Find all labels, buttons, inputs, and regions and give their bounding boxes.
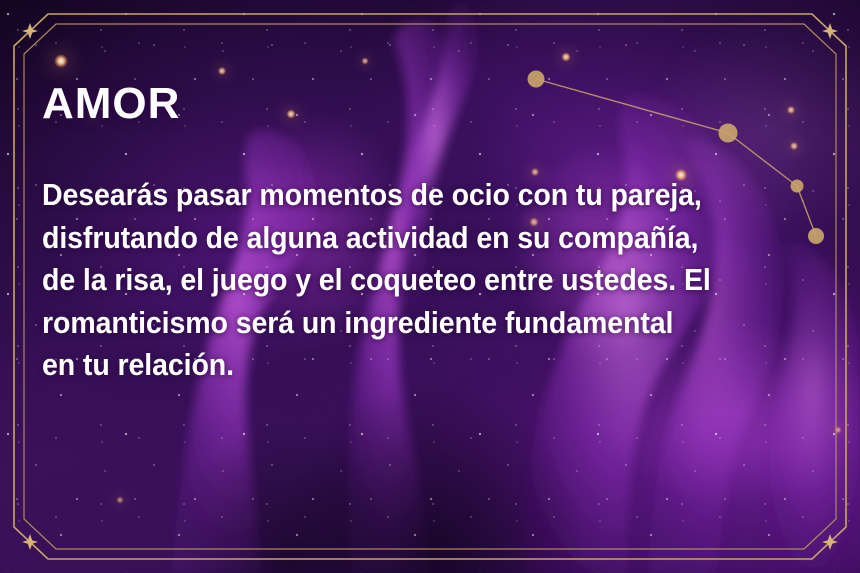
body-text-line: disfrutando de alguna actividad en su co… <box>42 217 751 260</box>
page-title: AMOR <box>42 82 800 126</box>
body-text-line: romanticismo será un ingrediente fundame… <box>42 302 751 345</box>
body-text-line: de la risa, el juego y el coqueteo entre… <box>42 259 751 302</box>
horoscope-body-text: Desearás pasar momentos de ocio con tu p… <box>42 126 800 387</box>
body-text-line: en tu relación. <box>42 344 751 387</box>
card-content: AMOR Desearás pasar momentos de ocio con… <box>42 82 800 387</box>
body-text-line: Desearás pasar momentos de ocio con tu p… <box>42 174 751 217</box>
horoscope-amor-card: AMOR Desearás pasar momentos de ocio con… <box>0 0 860 573</box>
